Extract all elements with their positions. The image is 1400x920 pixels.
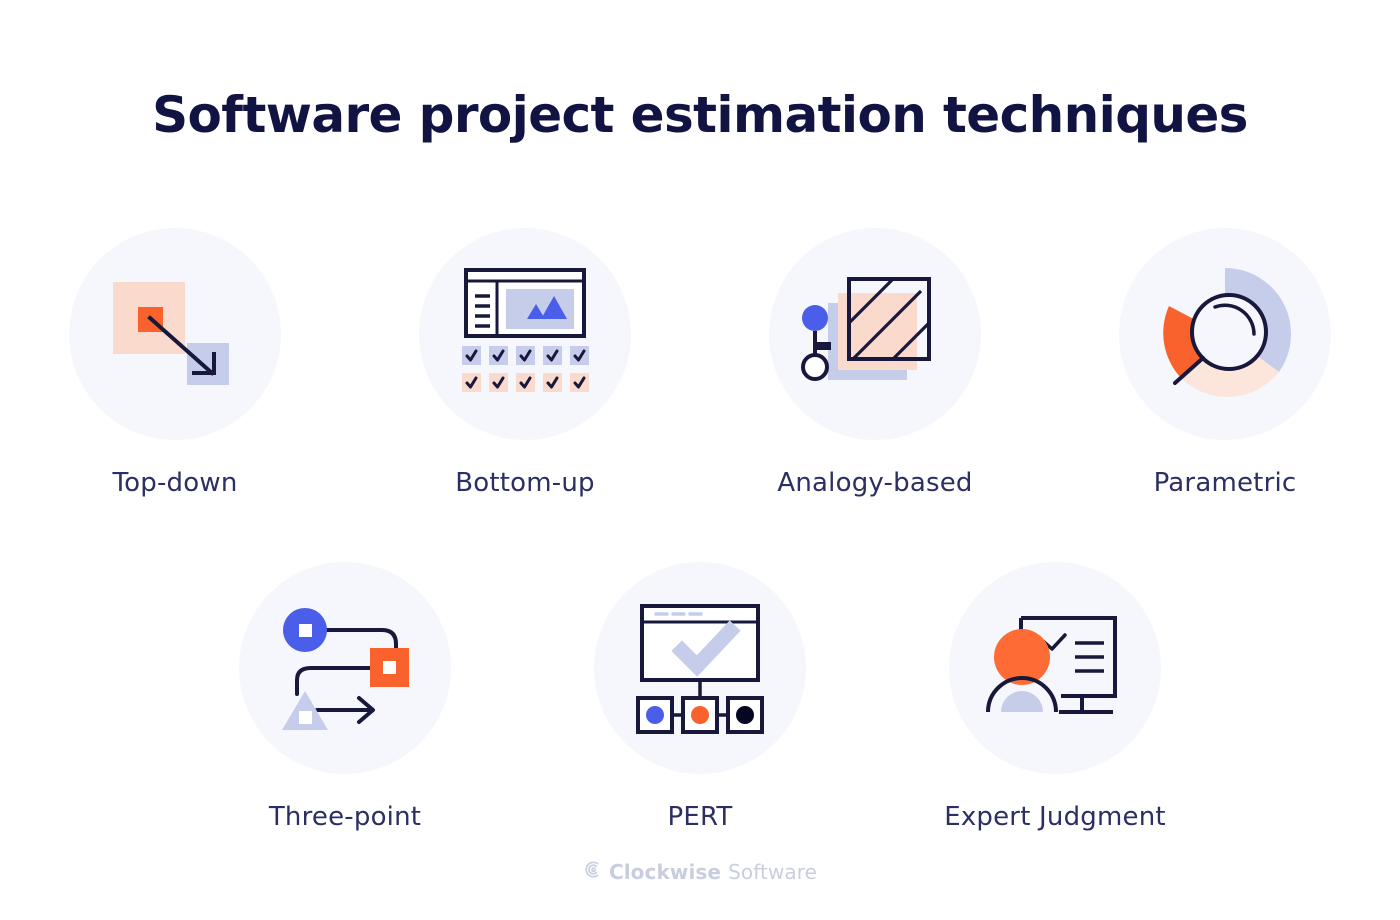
- image-placeholder: [506, 289, 574, 329]
- node-filled-circle: [802, 305, 828, 331]
- expert-judgment-icon: [949, 562, 1161, 774]
- browser-window: [642, 606, 758, 680]
- technique-card-pert[interactable]: PERT: [523, 562, 878, 832]
- brand-name-bold: Clockwise: [609, 860, 721, 884]
- clockwise-spiral-logo: [583, 860, 602, 884]
- technique-label-three-point: Three-point: [269, 802, 421, 832]
- node-dot-navy: [736, 706, 754, 724]
- technique-card-bottom-up[interactable]: Bottom-up: [350, 228, 700, 498]
- techniques-row-2: Three-point: [0, 562, 1400, 832]
- technique-label-top-down: Top-down: [112, 468, 237, 498]
- top-down-icon: [69, 228, 281, 440]
- footer-brand[interactable]: Clockwise Software: [0, 860, 1400, 884]
- checkmark-row-lavender: [462, 346, 589, 365]
- parametric-icon: [1119, 228, 1331, 440]
- browser-window: [466, 270, 584, 336]
- person-body-fill: [1001, 691, 1043, 712]
- pert-icon: [594, 562, 806, 774]
- target-lavender-square: [187, 343, 229, 385]
- technique-label-parametric: Parametric: [1154, 468, 1297, 498]
- technique-card-parametric[interactable]: Parametric: [1050, 228, 1400, 498]
- technique-card-top-down[interactable]: Top-down: [0, 228, 350, 498]
- board-text-lines: [1075, 643, 1104, 671]
- technique-label-bottom-up: Bottom-up: [455, 468, 595, 498]
- brand-name-light: Software: [728, 860, 817, 884]
- technique-label-pert: PERT: [668, 802, 733, 832]
- technique-card-analogy-based[interactable]: Analogy-based: [700, 228, 1050, 498]
- technique-card-expert-judgment[interactable]: Expert Judgment: [878, 562, 1233, 832]
- page-title: Software project estimation techniques: [0, 86, 1400, 144]
- pert-node-boxes: [638, 698, 762, 732]
- three-point-icon: [239, 562, 451, 774]
- node-outline-circle: [803, 355, 827, 379]
- checkmark-row-peach: [462, 373, 589, 392]
- analogy-based-icon: [769, 228, 981, 440]
- node-dot-orange: [691, 706, 709, 724]
- checkmark-grid: [462, 346, 589, 392]
- technique-label-expert-judgment: Expert Judgment: [944, 802, 1166, 832]
- node-dot-blue: [646, 706, 664, 724]
- technique-card-three-point[interactable]: Three-point: [168, 562, 523, 832]
- bottom-up-icon: [419, 228, 631, 440]
- technique-label-analogy-based: Analogy-based: [777, 468, 972, 498]
- techniques-row-1: Top-down: [0, 228, 1400, 498]
